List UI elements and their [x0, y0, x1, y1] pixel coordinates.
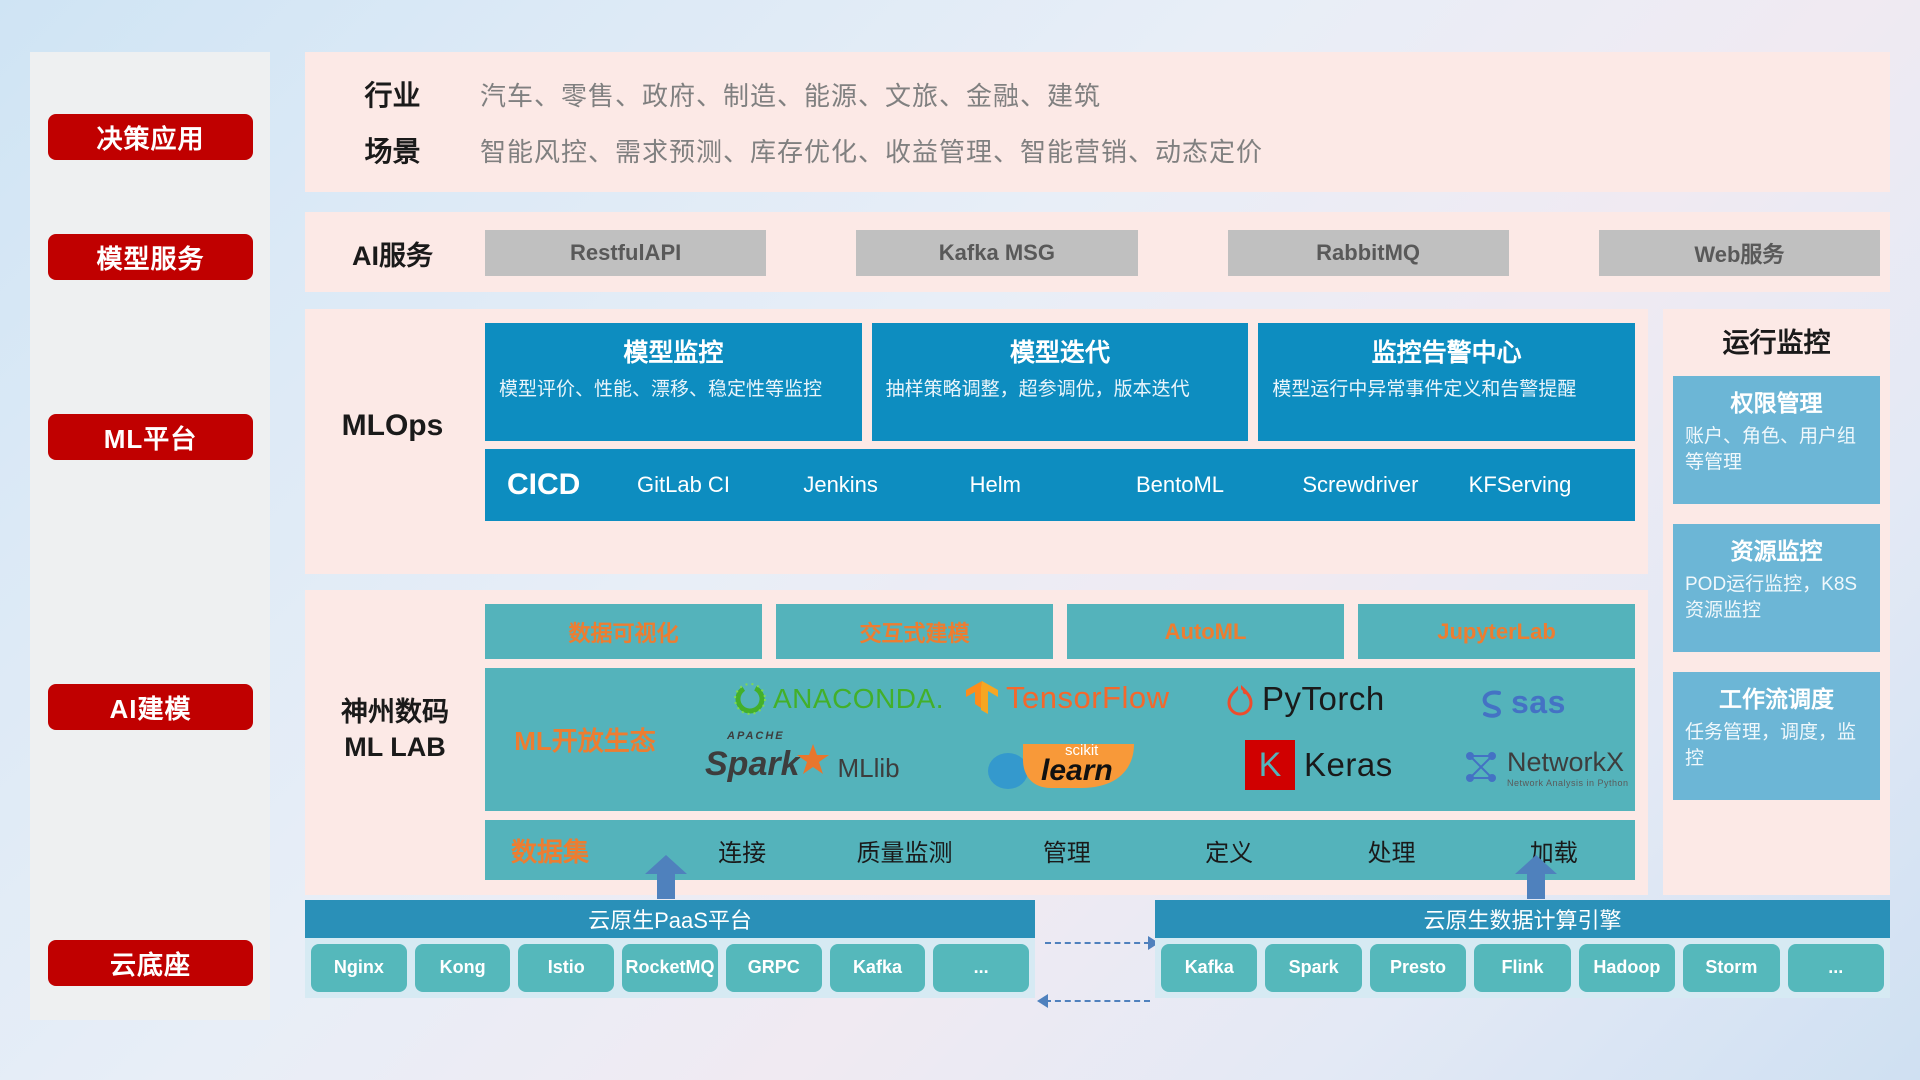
stage-label: 云底座: [110, 945, 191, 982]
monitor-card-desc: POD运行监控，K8S资源监控: [1685, 572, 1868, 623]
stage-chip-decision-app[interactable]: 决策应用: [48, 114, 253, 160]
cloud-chip-more[interactable]: ...: [1788, 944, 1884, 992]
spark-label: Spark: [705, 745, 800, 784]
service-box-label: RestfulAPI: [570, 240, 681, 266]
lab-tab-data-visualization[interactable]: 数据可视化: [485, 604, 762, 659]
dataset-item-quality-monitoring[interactable]: 质量监测: [823, 833, 985, 868]
stage-chip-ml-platform[interactable]: ML平台: [48, 414, 253, 460]
networkx-graph-icon: [1460, 746, 1502, 788]
monitor-card-title: 资源监控: [1685, 532, 1868, 566]
lab-tab-label: AutoML: [1165, 619, 1247, 645]
anaconda-dot: .: [936, 683, 944, 715]
cloud-chip-grpc[interactable]: GRPC: [726, 944, 822, 992]
service-box-label: RabbitMQ: [1316, 240, 1420, 266]
mlops-card-title: 模型迭代: [886, 333, 1235, 369]
sas-logo[interactable]: sas: [1475, 684, 1566, 721]
lab-tab-label: 交互式建模: [859, 616, 969, 648]
keras-logo[interactable]: K Keras: [1245, 740, 1393, 790]
decision-row-scenario: 场景 智能风控、需求预测、库存优化、收益管理、智能营销、动态定价: [305, 122, 1890, 178]
cloud-chip-kafka[interactable]: Kafka: [830, 944, 926, 992]
stage-chip-cloud-base[interactable]: 云底座: [48, 940, 253, 986]
scikit-learn-logo[interactable]: scikit learn: [985, 740, 1136, 797]
decision-row-industry: 行业 汽车、零售、政府、制造、能源、文旅、金融、建筑: [305, 66, 1890, 122]
cloud-chip-presto[interactable]: Presto: [1370, 944, 1466, 992]
monitor-card-desc: 账户、角色、用户组等管理: [1685, 424, 1868, 475]
pytorch-label: PyTorch: [1262, 680, 1385, 718]
stage-label: 模型服务: [96, 239, 204, 276]
mlops-cards: 模型监控 模型评价、性能、漂移、稳定性等监控 模型迭代 抽样策略调整，超参调优，…: [485, 323, 1635, 441]
cloud-chip-hadoop[interactable]: Hadoop: [1579, 944, 1675, 992]
cicd-title: CICD: [507, 468, 637, 502]
scenario-value: 智能风控、需求预测、库存优化、收益管理、智能营销、动态定价: [480, 132, 1263, 169]
cloud-paas-chips: Nginx Kong Istio RocketMQ GRPC Kafka ...: [305, 938, 1035, 998]
mlops-card-alert-center[interactable]: 监控告警中心 模型运行中异常事件定义和告警提醒: [1258, 323, 1635, 441]
ml-lab-label: 神州数码 ML LAB: [305, 695, 485, 765]
monitor-card-title: 工作流调度: [1685, 680, 1868, 714]
industry-label: 行业: [305, 74, 480, 114]
mlops-label: MLOps: [305, 409, 480, 443]
cloud-chip-storm[interactable]: Storm: [1683, 944, 1779, 992]
service-box-label: Web服务: [1694, 237, 1784, 269]
learn-label: learn: [1041, 754, 1113, 788]
monitor-card-title: 权限管理: [1685, 384, 1868, 418]
networkx-label: NetworkX: [1507, 747, 1629, 778]
anaconda-mark-icon: [733, 682, 767, 716]
mlops-card-desc: 抽样策略调整，超参调优，版本迭代: [886, 377, 1235, 403]
cloud-data-engine-chips: Kafka Spark Presto Flink Hadoop Storm ..…: [1155, 938, 1890, 998]
cloud-chip-spark[interactable]: Spark: [1265, 944, 1361, 992]
cicd-bar: CICD GitLab CI Jenkins Helm BentoML Scre…: [485, 449, 1635, 521]
cicd-item-bentoml[interactable]: BentoML: [1136, 473, 1302, 497]
networkx-logo[interactable]: NetworkX Network Analysis in Python: [1460, 746, 1629, 788]
cicd-item-kfserving[interactable]: KFServing: [1469, 473, 1635, 497]
ai-service-band: AI服务 RestfulAPI Kafka MSG RabbitMQ Web服务: [305, 212, 1890, 292]
dashed-connector-right: [1045, 942, 1150, 944]
cloud-paas-header: 云原生PaaS平台: [305, 900, 1035, 938]
service-box-web-service[interactable]: Web服务: [1599, 230, 1880, 276]
monitor-card-workflow-scheduling[interactable]: 工作流调度 任务管理，调度，监控: [1673, 672, 1880, 800]
cloud-chip-kong[interactable]: Kong: [415, 944, 511, 992]
ml-lab-label-line2: ML LAB: [305, 730, 485, 765]
runtime-monitoring-title: 运行监控: [1663, 321, 1890, 360]
service-box-rabbitmq[interactable]: RabbitMQ: [1228, 230, 1509, 276]
main-area: 行业 汽车、零售、政府、制造、能源、文旅、金融、建筑 场景 智能风控、需求预测、…: [305, 52, 1890, 1020]
mlops-band: MLOps 模型监控 模型评价、性能、漂移、稳定性等监控 模型迭代 抽样策略调整…: [305, 309, 1648, 574]
cloud-data-engine-header: 云原生数据计算引擎: [1155, 900, 1890, 938]
ai-service-boxes: RestfulAPI Kafka MSG RabbitMQ Web服务: [485, 230, 1880, 276]
mlops-card-model-iteration[interactable]: 模型迭代 抽样策略调整，超参调优，版本迭代: [872, 323, 1249, 441]
cloud-chip-kafka[interactable]: Kafka: [1161, 944, 1257, 992]
cicd-item-helm[interactable]: Helm: [970, 473, 1136, 497]
monitor-card-permission-management[interactable]: 权限管理 账户、角色、用户组等管理: [1673, 376, 1880, 504]
sas-swirl-icon: [1475, 686, 1509, 720]
cicd-item-gitlab-ci[interactable]: GitLab CI: [637, 473, 803, 497]
cloud-chip-istio[interactable]: Istio: [518, 944, 614, 992]
ml-ecosystem-logos: ANACONDA . APACHE Spark MLlib: [685, 668, 1635, 811]
keras-k-label: K: [1259, 746, 1282, 785]
networkx-subtitle: Network Analysis in Python: [1507, 778, 1629, 788]
cloud-chip-nginx[interactable]: Nginx: [311, 944, 407, 992]
lab-tab-automl[interactable]: AutoML: [1067, 604, 1344, 659]
stage-label: AI建模: [109, 689, 191, 726]
ai-modeling-band: 神州数码 ML LAB 数据可视化 交互式建模 AutoML JupyterLa…: [305, 590, 1648, 895]
spark-apache-label: APACHE: [727, 730, 785, 742]
tensorflow-logo[interactable]: TensorFlow: [965, 680, 1170, 716]
cloud-chip-rocketmq[interactable]: RocketMQ: [622, 944, 718, 992]
tensorflow-label: TensorFlow: [1006, 680, 1170, 716]
ml-ecosystem-title: ML开放生态: [485, 721, 685, 758]
monitor-card-desc: 任务管理，调度，监控: [1685, 720, 1868, 771]
cloud-data-engine-group: 云原生数据计算引擎 Kafka Spark Presto Flink Hadoo…: [1155, 900, 1890, 998]
runtime-monitoring-panel: 运行监控 权限管理 账户、角色、用户组等管理 资源监控 POD运行监控，K8S资…: [1663, 309, 1890, 895]
dataset-item-management[interactable]: 管理: [986, 833, 1148, 868]
ml-ecosystem-row: ML开放生态 ANACONDA . APACHE Spark: [485, 668, 1635, 811]
lab-tab-label: 数据可视化: [568, 616, 678, 648]
lab-tab-label: JupyterLab: [1437, 619, 1556, 645]
sas-label: sas: [1511, 684, 1566, 721]
pytorch-flame-icon: [1225, 682, 1255, 716]
decision-application-band: 行业 汽车、零售、政府、制造、能源、文旅、金融、建筑 场景 智能风控、需求预测、…: [305, 52, 1890, 192]
mlops-card-desc: 模型运行中异常事件定义和告警提醒: [1272, 377, 1621, 403]
anaconda-logo[interactable]: ANACONDA .: [733, 682, 943, 716]
spark-star-icon: [796, 742, 830, 776]
mlops-card-title: 模型监控: [499, 333, 848, 369]
mlops-card-model-monitoring[interactable]: 模型监控 模型评价、性能、漂移、稳定性等监控: [485, 323, 862, 441]
scenario-label: 场景: [305, 130, 480, 170]
keras-mark-icon: K: [1245, 740, 1295, 790]
cicd-item-jenkins[interactable]: Jenkins: [803, 473, 969, 497]
mllib-label: MLlib: [838, 753, 900, 784]
dataset-title: 数据集: [511, 832, 661, 869]
up-arrow-data-engine-icon: [1515, 855, 1557, 899]
service-box-kafka-msg[interactable]: Kafka MSG: [856, 230, 1137, 276]
ml-lab-tabs: 数据可视化 交互式建模 AutoML JupyterLab: [485, 604, 1635, 659]
industry-value: 汽车、零售、政府、制造、能源、文旅、金融、建筑: [480, 76, 1101, 113]
mlops-card-title: 监控告警中心: [1272, 333, 1621, 369]
service-box-restfulapi[interactable]: RestfulAPI: [485, 230, 766, 276]
stage-chip-model-service[interactable]: 模型服务: [48, 234, 253, 280]
lab-tab-jupyterlab[interactable]: JupyterLab: [1358, 604, 1635, 659]
lab-tab-interactive-modeling[interactable]: 交互式建模: [776, 604, 1053, 659]
mlops-card-desc: 模型评价、性能、漂移、稳定性等监控: [499, 377, 848, 403]
stage-column: 决策应用 模型服务 ML平台 AI建模 云底座: [30, 52, 270, 1020]
tensorflow-mark-icon: [965, 680, 999, 716]
service-box-label: Kafka MSG: [939, 240, 1055, 266]
dataset-item-definition[interactable]: 定义: [1148, 833, 1310, 868]
monitor-card-resource-monitoring[interactable]: 资源监控 POD运行监控，K8S资源监控: [1673, 524, 1880, 652]
cloud-chip-more[interactable]: ...: [933, 944, 1029, 992]
ai-service-label: AI服务: [305, 234, 480, 273]
stage-label: ML平台: [104, 419, 198, 456]
dataset-item-processing[interactable]: 处理: [1310, 833, 1472, 868]
stage-chip-ai-modeling[interactable]: AI建模: [48, 684, 253, 730]
ml-lab-label-line1: 神州数码: [305, 695, 485, 730]
up-arrow-paas-icon: [645, 855, 687, 899]
dashed-connector-left: [1045, 1000, 1150, 1002]
keras-label: Keras: [1304, 746, 1393, 784]
dashed-arrowhead-left-icon: [1037, 994, 1048, 1008]
cloud-paas-group: 云原生PaaS平台 Nginx Kong Istio RocketMQ GRPC…: [305, 900, 1035, 998]
spark-mllib-logo[interactable]: APACHE Spark MLlib: [705, 742, 900, 784]
cicd-item-screwdriver[interactable]: Screwdriver: [1302, 473, 1468, 497]
stage-label: 决策应用: [96, 119, 204, 156]
anaconda-label: ANACONDA: [773, 683, 936, 715]
cloud-chip-flink[interactable]: Flink: [1474, 944, 1570, 992]
pytorch-logo[interactable]: PyTorch: [1225, 680, 1385, 718]
